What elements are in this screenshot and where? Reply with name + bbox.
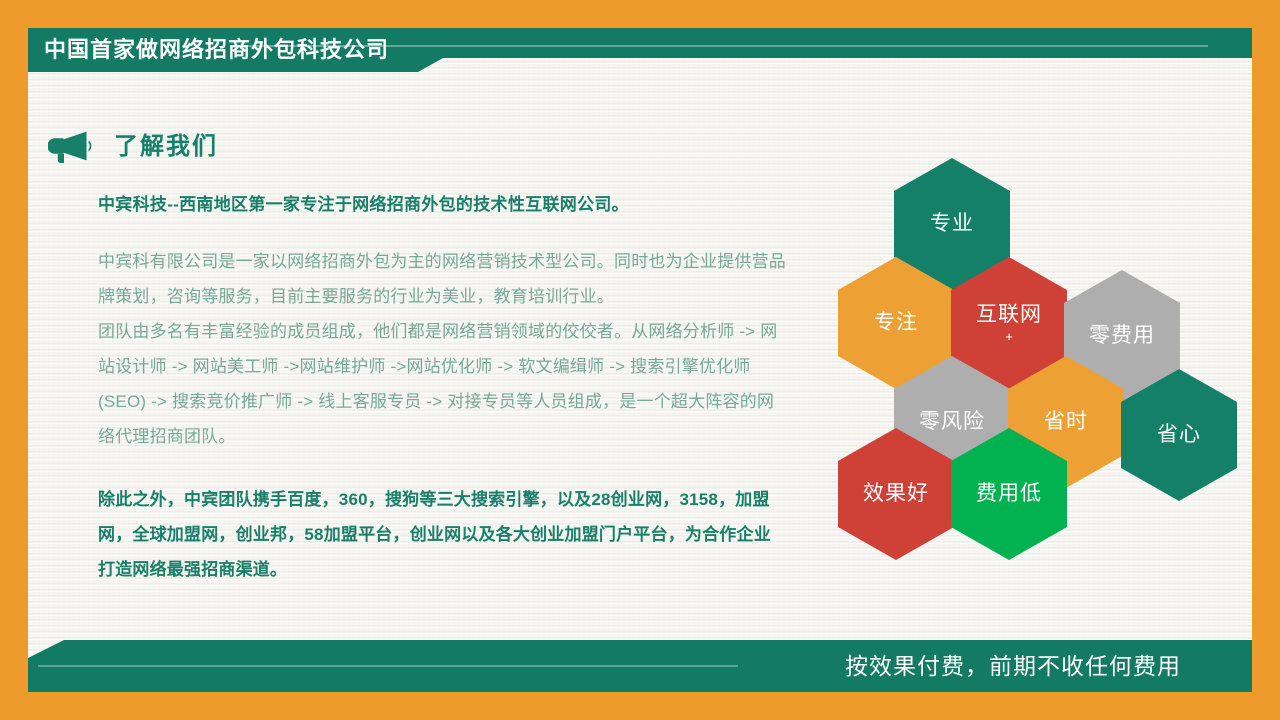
body-paragraph-2: 团队由多名有丰富经验的成员组成，他们都是网络营销领域的佼佼者。从网络分析师 ->… — [98, 314, 788, 454]
hexagon-cluster: 专业专注互联网+零费用零风险省时省心效果好费用低 — [838, 158, 1232, 530]
slide-root: 中国首家做网络招商外包科技公司 了解我们 中宾科技--西南地区第一家专注于网络招… — [0, 0, 1280, 720]
section-heading: 了解我们 — [48, 130, 218, 164]
hexagon-label: 省心 — [1157, 422, 1201, 448]
hexagon-label: 专业 — [930, 211, 974, 237]
megaphone-icon — [48, 130, 92, 164]
hexagon-label: 零风险 — [919, 409, 985, 435]
footer-divider-line — [38, 665, 738, 667]
header-divider-line — [248, 45, 1208, 47]
section-title: 了解我们 — [114, 132, 218, 162]
closing-paragraph: 除此之外，中宾团队携手百度，360，搜狗等三大搜索引擎，以及28创业网，3158… — [98, 482, 788, 587]
body-paragraph-1: 中宾科有限公司是一家以网络招商外包为主的网络营销技术型公司。同时也为企业提供营品… — [98, 244, 788, 314]
header-title: 中国首家做网络招商外包科技公司 — [44, 34, 389, 66]
lead-statement: 中宾科技--西南地区第一家专注于网络招商外包的技术性互联网公司。 — [98, 190, 788, 220]
hexagon-label: 互联网 — [976, 302, 1042, 328]
hexagon-label: 省时 — [1044, 409, 1088, 435]
hexagon-label: 效果好 — [863, 481, 929, 507]
footer-tagline: 按效果付费，前期不收任何费用 — [845, 650, 1181, 682]
hexagon-label: 费用低 — [976, 481, 1042, 507]
about-copy-block: 中宾科技--西南地区第一家专注于网络招商外包的技术性互联网公司。 中宾科有限公司… — [98, 190, 788, 587]
hexagon-label: 零费用 — [1089, 323, 1155, 349]
hexagon-label: 专注 — [874, 310, 918, 336]
hexagon-sublabel: + — [1005, 330, 1013, 344]
